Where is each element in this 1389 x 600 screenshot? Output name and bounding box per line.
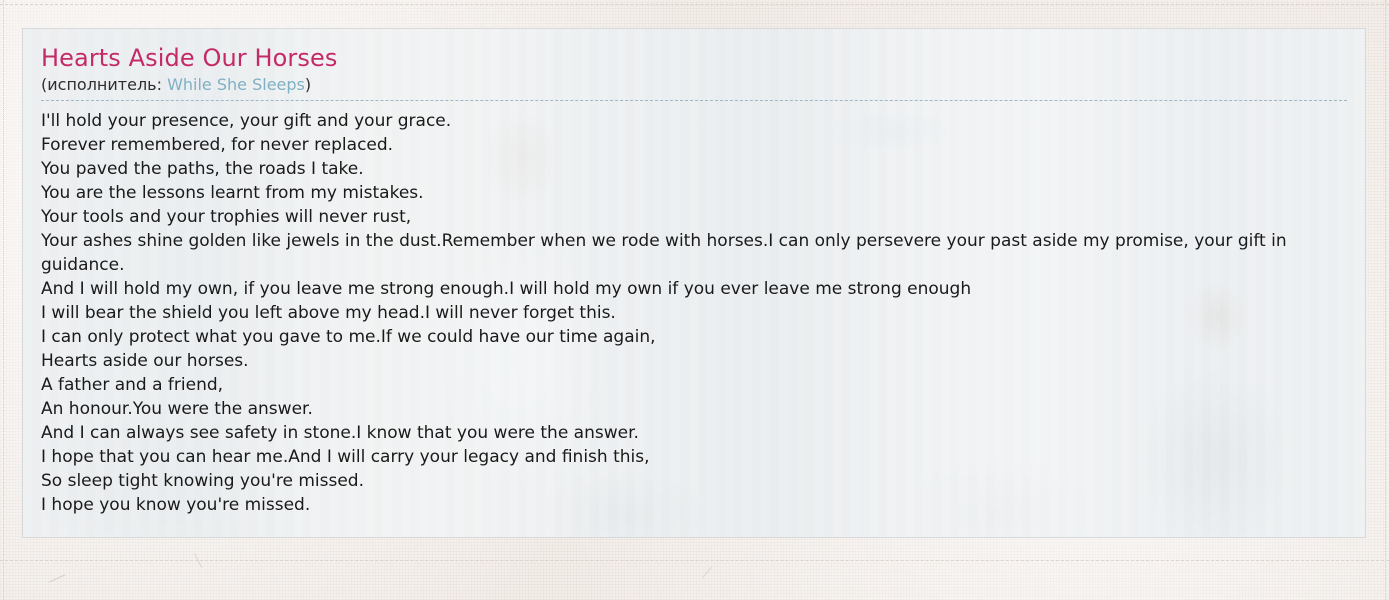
lyrics-card: Hearts Aside Our Horses (исполнитель: Wh… [22,28,1366,538]
card-content: Hearts Aside Our Horses (исполнитель: Wh… [23,29,1365,517]
page-rule-right [1385,0,1386,600]
page-title: Hearts Aside Our Horses [41,43,1347,73]
lyric-line: A father and a friend, [41,373,1347,397]
lyric-line: Hearts aside our horses. [41,349,1347,373]
artist-byline: (исполнитель: While She Sleeps) [41,74,1347,96]
byline-suffix-label: ) [305,75,311,94]
lyric-line: I hope you know you're missed. [41,493,1347,517]
lyric-line: You paved the paths, the roads I take. [41,157,1347,181]
page-rule-top [0,4,1389,5]
lyric-line: I hope that you can hear me.And I will c… [41,445,1347,469]
lyric-line: You are the lessons learnt from my mista… [41,181,1347,205]
lyric-line: Your ashes shine golden like jewels in t… [41,229,1347,277]
lyric-line: And I can always see safety in stone.I k… [41,421,1347,445]
page-rule-bottom [0,560,1389,561]
lyric-line: I will bear the shield you left above my… [41,301,1347,325]
lyric-line: I can only protect what you gave to me.I… [41,325,1347,349]
artist-link[interactable]: While She Sleeps [167,75,305,94]
lyric-line: Forever remembered, for never replaced. [41,133,1347,157]
page-rule-left [3,0,4,600]
lyric-line: An honour.You were the answer. [41,397,1347,421]
lyrics-body: I'll hold your presence, your gift and y… [41,109,1347,517]
song-header: Hearts Aside Our Horses (исполнитель: Wh… [41,43,1347,101]
lyric-line: Your tools and your trophies will never … [41,205,1347,229]
lyric-line: I'll hold your presence, your gift and y… [41,109,1347,133]
byline-prefix-label: (исполнитель: [41,75,167,94]
lyric-line: And I will hold my own, if you leave me … [41,277,1347,301]
lyric-line: So sleep tight knowing you're missed. [41,469,1347,493]
